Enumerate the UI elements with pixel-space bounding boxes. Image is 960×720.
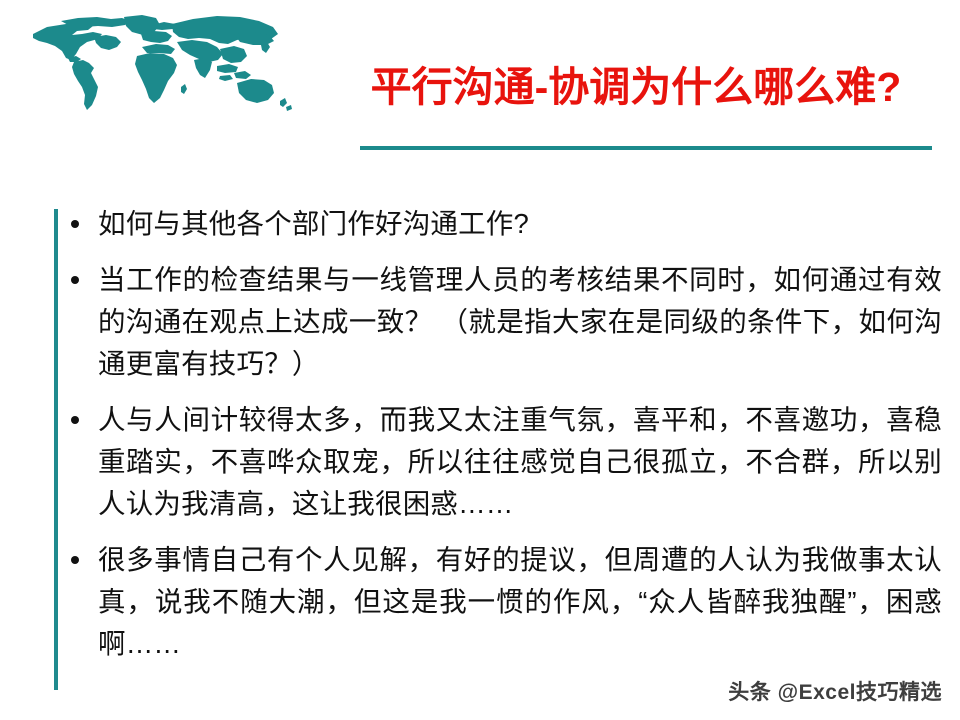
title-underline (360, 146, 932, 150)
bullet-dot-icon (71, 276, 79, 284)
bullet-text: 很多事情自己有个人见解，有好的提议，但周遭的人认为我做事太认真，说我不随大潮，但… (98, 539, 942, 665)
bullet-item: 人与人间计较得太多，而我又太注重气氛，喜平和，不喜邀功，喜稳重踏实，不喜哗众取宠… (62, 399, 942, 525)
slide-title: 平行沟通-协调为什么哪么难? (330, 64, 942, 111)
bullet-dot-icon (71, 556, 79, 564)
bullet-dot-icon (71, 416, 79, 424)
bullet-text: 当工作的检查结果与一线管理人员的考核结果不同时，如何通过有效的沟通在观点上达成一… (98, 259, 942, 385)
bullet-dot-icon (71, 220, 79, 228)
bullet-item: 如何与其他各个部门作好沟通工作? (62, 203, 942, 245)
left-accent-bar (54, 209, 58, 690)
bullet-item: 很多事情自己有个人见解，有好的提议，但周遭的人认为我做事太认真，说我不随大潮，但… (62, 539, 942, 665)
watermark: 头条 @Excel技巧精选 (728, 676, 942, 706)
bullet-list: 如何与其他各个部门作好沟通工作? 当工作的检查结果与一线管理人员的考核结果不同时… (62, 203, 942, 665)
bullet-item: 当工作的检查结果与一线管理人员的考核结果不同时，如何通过有效的沟通在观点上达成一… (62, 259, 942, 385)
bullet-text: 人与人间计较得太多，而我又太注重气氛，喜平和，不喜邀功，喜稳重踏实，不喜哗众取宠… (98, 399, 942, 525)
bullet-text: 如何与其他各个部门作好沟通工作? (98, 203, 942, 245)
world-map-icon (18, 12, 308, 117)
presentation-slide: 平行沟通-协调为什么哪么难? 如何与其他各个部门作好沟通工作? 当工作的检查结果… (0, 0, 960, 720)
